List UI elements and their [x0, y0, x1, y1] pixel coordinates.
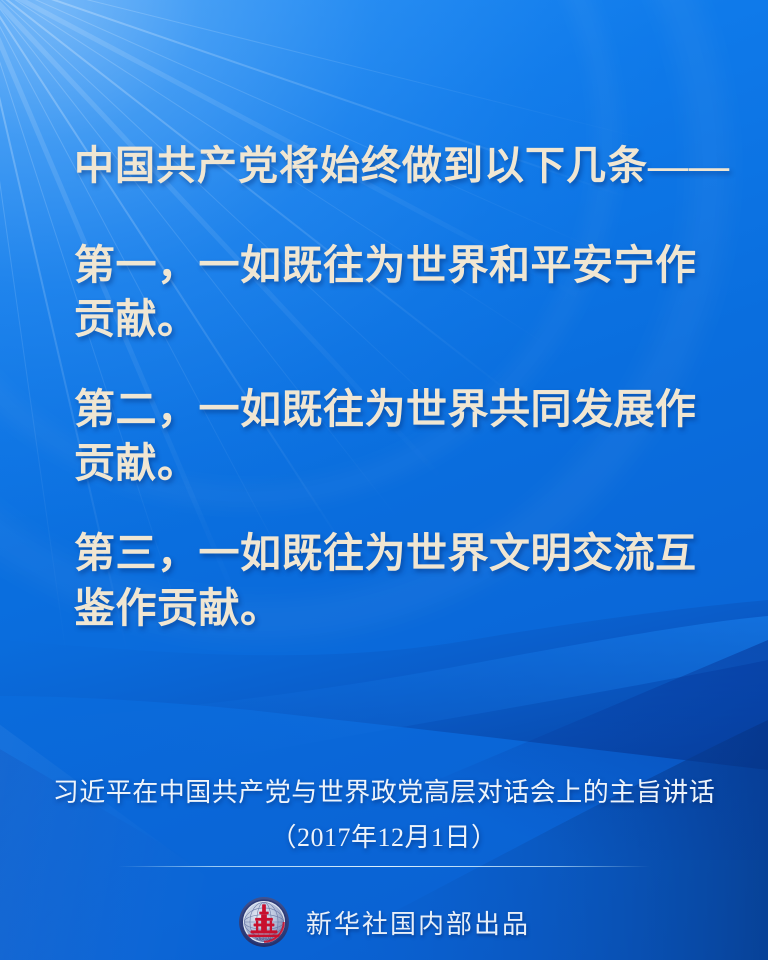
poster-canvas: 中国共产党将始终做到以下几条—— 第一，一如既往为世界和平安宁作贡献。 第二，一… — [0, 0, 768, 960]
svg-text:XINHUA: XINHUA — [256, 937, 272, 941]
list-item: 第三，一如既往为世界文明交流互鉴作贡献。 — [74, 526, 722, 634]
xinhua-emblem-icon: XINHUA — [238, 896, 290, 948]
caption-source: 习近平在中国共产党与世界政党高层对话会上的主旨讲话 — [0, 778, 768, 809]
poster-content: 中国共产党将始终做到以下几条—— 第一，一如既往为世界和平安宁作贡献。 第二，一… — [0, 0, 768, 960]
credit-label: 新华社国内部出品 — [306, 904, 530, 941]
list-item: 第二，一如既往为世界共同发展作贡献。 — [74, 382, 722, 490]
caption-block: 习近平在中国共产党与世界政党高层对话会上的主旨讲话 （2017年12月1日） — [0, 778, 768, 854]
list-item: 第一，一如既往为世界和平安宁作贡献。 — [74, 238, 722, 346]
credit-bar: XINHUA 新华社国内部出品 — [0, 896, 768, 948]
clause-list: 第一，一如既往为世界和平安宁作贡献。 第二，一如既往为世界共同发展作贡献。 第三… — [74, 238, 722, 635]
page-title: 中国共产党将始终做到以下几条—— — [74, 142, 714, 189]
caption-date: （2017年12月1日） — [0, 817, 768, 854]
